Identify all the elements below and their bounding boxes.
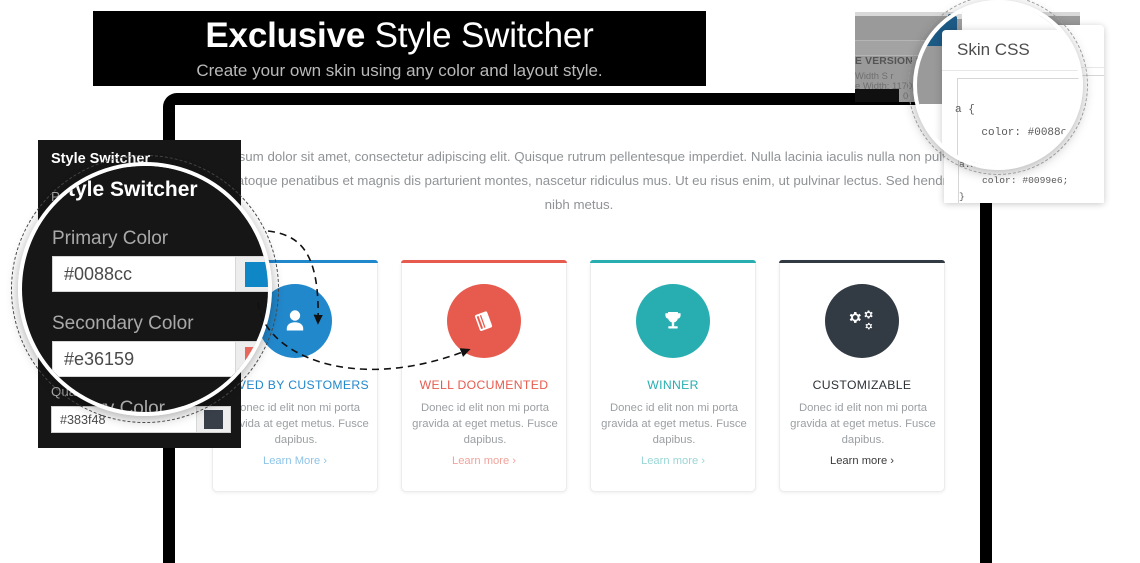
intro-paragraph: Lorem ipsum dolor sit amet, consectetur … xyxy=(184,145,974,217)
feature-card[interactable]: WINNER Donec id elit non mi porta gravid… xyxy=(590,260,756,492)
mock-line-3: 0 xyxy=(903,90,908,101)
header-banner: Exclusive Style Switcher Create your own… xyxy=(93,11,706,86)
card-title: CUSTOMIZABLE xyxy=(780,378,944,392)
tertiary-color-input[interactable] xyxy=(52,342,196,367)
user-icon xyxy=(280,306,310,336)
page-subtitle: Create your own skin using any color and… xyxy=(93,60,706,81)
secondary-color-group: Secondary Color xyxy=(51,253,231,303)
quaternary-color-group: Quaternary Color xyxy=(51,383,231,433)
card-icon-circle xyxy=(825,284,899,358)
card-accent-bar xyxy=(779,260,945,263)
card-description: Donec id elit non mi porta gravida at eg… xyxy=(410,400,560,448)
card-learn-more-link[interactable]: Learn more › xyxy=(591,455,755,467)
tertiary-color-row[interactable] xyxy=(51,341,231,368)
tertiary-color-label: Tertiary Color xyxy=(51,318,231,336)
skin-css-code[interactable]: a { color: #0088cc; } a:hover { color: #… xyxy=(958,75,1104,203)
card-learn-more-link[interactable]: Learn more › xyxy=(402,455,566,467)
card-accent-bar xyxy=(401,260,567,263)
primary-color-group: Primary Color xyxy=(51,188,231,238)
secondary-color-input[interactable] xyxy=(52,277,196,302)
quaternary-color-row[interactable] xyxy=(51,406,231,433)
quaternary-color-input[interactable] xyxy=(52,407,196,432)
page-title-light: Style Switcher xyxy=(365,16,593,55)
main-content: Lorem ipsum dolor sit amet, consectetur … xyxy=(175,105,980,550)
tertiary-color-swatch-button[interactable] xyxy=(196,342,230,367)
card-title: WINNER xyxy=(591,378,755,392)
mock-heading: E VERSION 1 xyxy=(855,56,922,67)
card-icon-circle xyxy=(258,284,332,358)
feature-card[interactable]: CUSTOMIZABLE Donec id elit non mi porta … xyxy=(779,260,945,492)
card-icon-circle xyxy=(447,284,521,358)
secondary-color-label: Secondary Color xyxy=(51,253,231,271)
divider xyxy=(944,67,1104,68)
color-swatch-icon xyxy=(204,345,223,364)
quaternary-color-label: Quaternary Color xyxy=(51,383,231,401)
color-swatch-icon xyxy=(204,215,223,234)
page-title: Exclusive Style Switcher xyxy=(93,14,706,58)
style-switcher-panel: Style Switcher Primary Color Secondary C… xyxy=(38,140,241,448)
skin-css-panel: Skin CSS a { color: #0088cc; } a:hover {… xyxy=(944,25,1104,203)
card-description: Donec id elit non mi porta gravida at eg… xyxy=(599,400,749,448)
card-description: Donec id elit non mi porta gravida at eg… xyxy=(221,400,371,448)
feature-cards-row: LOVED BY CUSTOMERS Donec id elit non mi … xyxy=(212,260,945,492)
secondary-color-row[interactable] xyxy=(51,276,231,303)
color-swatch-icon xyxy=(204,280,223,299)
color-swatch-icon xyxy=(204,410,223,429)
primary-color-swatch-button[interactable] xyxy=(196,212,230,237)
secondary-color-swatch-button[interactable] xyxy=(196,277,230,302)
primary-color-input[interactable] xyxy=(52,212,196,237)
card-description: Donec id elit non mi porta gravida at eg… xyxy=(788,400,938,448)
primary-color-label: Primary Color xyxy=(51,188,231,206)
primary-color-row[interactable] xyxy=(51,211,231,238)
tertiary-color-group: Tertiary Color xyxy=(51,318,231,368)
gears-icon xyxy=(847,306,877,336)
card-learn-more-link[interactable]: Learn More › xyxy=(213,455,377,467)
feature-card[interactable]: WELL DOCUMENTED Donec id elit non mi por… xyxy=(401,260,567,492)
card-learn-more-link[interactable]: Learn more › xyxy=(780,455,944,467)
style-switcher-title: Style Switcher xyxy=(51,151,150,167)
skin-css-title: Skin CSS xyxy=(958,37,1020,53)
card-accent-bar xyxy=(590,260,756,263)
trophy-icon xyxy=(659,307,687,335)
quaternary-color-swatch-button[interactable] xyxy=(196,407,230,432)
card-icon-circle xyxy=(636,284,710,358)
card-title: WELL DOCUMENTED xyxy=(402,378,566,392)
mock-color-swatch xyxy=(855,89,899,102)
book-icon xyxy=(470,307,498,335)
page-title-bold: Exclusive xyxy=(205,16,365,55)
